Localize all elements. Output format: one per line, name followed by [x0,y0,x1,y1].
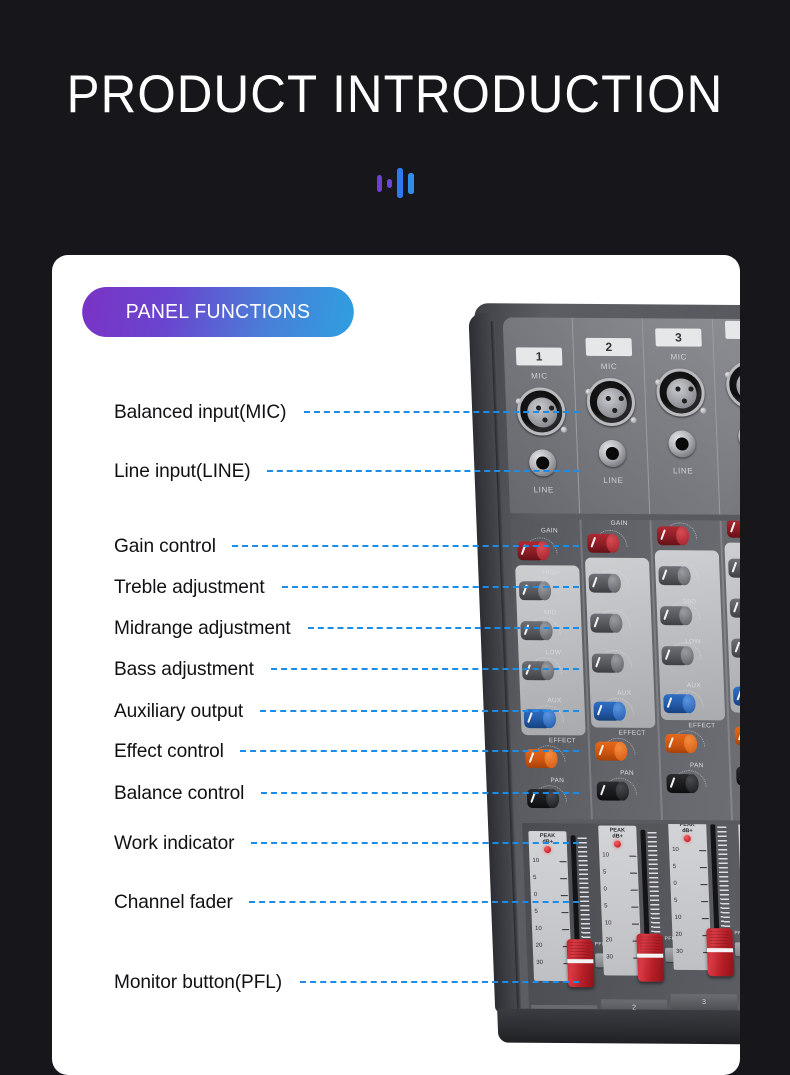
aux-knob-arc [669,690,704,707]
xlr-pin [675,386,680,391]
mid-eq-knob[interactable] [730,599,740,618]
eq-plate [655,550,726,720]
callout-label: Bass adjustment [114,658,254,681]
callout-channel-fader: Channel fader [114,889,579,915]
callout-label: Line input(LINE) [114,460,251,483]
pan-knob-arc [602,778,637,795]
callout-balance-control: Balance control [114,780,579,806]
callout-treble-adjustment: Treble adjustment [114,574,579,600]
callout-label: Monitor button(PFL) [114,971,282,994]
channel-strip-2: 2 MIC LINE [573,318,651,514]
fader-scale: PEAK dB+ 10 5 0 5 10 20 30 [738,823,740,965]
line-label: LINE [579,476,648,485]
xlr-inner [736,371,740,401]
fader-tick: 5 [603,869,637,875]
waveform-bar-1 [377,175,382,192]
pfl-label: PFL [664,936,675,942]
fader-scale: PEAK dB+ 10 5 0 5 10 20 30 [598,825,642,975]
mic-label: MIC [505,371,574,380]
mid-eq-knob[interactable] [660,606,691,625]
fader-tick: 20 [675,932,709,938]
aux-knob[interactable] [663,694,694,713]
low-eq-knob[interactable] [592,654,623,673]
fader-tick: 10 [602,852,636,858]
channel-number: 2 [585,338,632,356]
fader-track [710,824,721,972]
fader-tick: 5 [674,898,708,904]
fader-tick: 5 [533,875,567,881]
eq-plate [724,543,740,713]
channel-fader-strip-4: PEAK dB+ 10 5 0 5 10 20 30 [734,823,740,1005]
mic-label: MIC [644,352,713,361]
xlr-screw [700,408,706,414]
mixer-front-lip [497,1009,740,1046]
fader-tick: 30 [536,960,570,966]
channel-strip-3: 3 MIC LINE [643,318,721,514]
audio-waveform-icon [0,165,790,201]
callout-balanced-input: Balanced input(MIC) [114,399,579,425]
effect-knob[interactable] [734,727,740,746]
channel-number: 1 [516,347,563,365]
low-eq-arc [737,635,740,652]
xlr-screw [585,389,591,395]
channel-fader[interactable] [636,934,664,982]
pan-knob-label: PAN [620,770,634,777]
callout-label: Work indicator [114,832,234,855]
mid-eq-arc [596,610,631,627]
mic-label: MIC [714,345,740,354]
xlr-mic-input[interactable] [725,361,740,409]
callout-label: Channel fader [114,891,233,914]
xlr-pin [612,408,617,413]
panel-functions-card: PANEL FUNCTIONS 1 MIC [52,255,740,1075]
gain-knob-arc [593,530,628,547]
high-eq-knob[interactable] [588,574,619,593]
aux-knob[interactable] [593,702,624,721]
callout-label: Treble adjustment [114,576,265,599]
mid-eq-label: MID [684,598,697,605]
fader-tick: 0 [673,881,707,887]
low-eq-label: LOW [685,638,701,645]
fader-tick: 5 [604,903,638,909]
callout-dash-line [308,627,579,629]
low-eq-knob[interactable] [731,639,740,658]
waveform-bar-3 [397,168,403,198]
channel-divider [649,520,662,820]
peak-led [614,841,621,848]
channel-fader-strip-2: PEAK dB+ 10 5 0 5 10 20 30 [594,823,667,1015]
trs-line-input[interactable] [738,423,740,450]
xlr-pin [619,396,624,401]
high-eq-arc [734,555,740,572]
callout-label: Balance control [114,782,244,805]
callout-dash-line [300,981,579,983]
callout-effect-control: Effect control [114,738,579,764]
high-eq-knob[interactable] [658,566,689,585]
effect-knob[interactable] [665,734,696,753]
channel-number: 4 [725,321,740,339]
fader-ladder [578,837,592,979]
effect-knob-arc [601,738,636,755]
gain-knob-arc [732,519,740,532]
line-label: LINE [509,485,578,494]
callout-label: Balanced input(MIC) [114,401,286,424]
fader-tick: 10 [532,858,566,864]
trs-hole [606,447,620,460]
pfl-label: PFL [734,930,740,936]
aux-knob-label: AUX [617,690,632,697]
effect-knob-arc [671,730,706,747]
callout-label: Midrange adjustment [114,617,291,640]
fader-tick: 30 [676,949,710,955]
aux-knob-arc [739,683,740,700]
badge-label: PANEL FUNCTIONS [126,301,310,324]
channel-number: 3 [655,328,702,346]
xlr-mic-input[interactable] [656,368,706,416]
callout-auxiliary-output: Auxiliary output [114,698,579,724]
callout-dash-line [282,586,579,588]
fader-tick: 20 [536,943,570,949]
gain-knob-label: GAIN [610,520,627,527]
xlr-screw [561,427,567,433]
channel-fader[interactable] [706,928,734,976]
high-eq-arc [664,562,699,579]
xlr-pin [682,398,687,403]
fader-tick: 0 [604,886,638,892]
xlr-pin [688,387,693,392]
aux-knob-arc [599,698,634,715]
callout-dash-line [249,901,579,903]
high-eq-arc [594,570,629,587]
aux-knob-label: AUX [687,682,702,689]
callout-label: Auxiliary output [114,700,243,723]
xlr-screw [631,417,637,423]
low-eq-arc [667,642,702,659]
fader-channel-number: 2 [601,999,668,1015]
fader-tick: 30 [606,954,640,960]
eq-plate [585,558,656,728]
line-label: LINE [648,466,717,475]
callout-dash-line [261,792,579,794]
page-title: PRODUCT INTRODUCTION [28,64,763,125]
xlr-screw [655,379,661,385]
xlr-pin [606,396,611,401]
trs-line-input[interactable] [598,440,626,467]
effect-knob-label: EFFECT [619,730,646,737]
fader-scale: PEAK dB+ 10 5 0 5 10 20 30 [668,823,712,970]
channel-fader-strip-3: PEAK dB+ 10 5 0 5 10 20 30 [664,823,737,1010]
callout-dash-line [251,842,579,844]
callout-midrange-adjustment: Midrange adjustment [114,615,579,641]
peak-led [684,835,691,842]
callout-work-indicator: Work indicator [114,830,579,856]
gain-knob[interactable] [726,519,740,538]
pan-knob[interactable] [666,774,697,793]
fader-tick: 20 [605,937,639,943]
peak-label: PEAK dB+ [668,823,706,834]
trs-hole [675,437,689,450]
fader-tick: 10 [675,915,709,921]
fader-track [640,830,651,978]
fader-tick: 10 [672,847,706,853]
callout-dash-line [304,411,579,413]
gain-knob[interactable] [657,526,688,545]
trs-line-input[interactable] [668,430,696,457]
pan-knob[interactable] [736,766,740,785]
high-eq-knob[interactable] [728,559,740,578]
fader-channel-number: 3 [671,994,738,1010]
callout-label: Gain control [114,535,216,558]
xlr-mic-input[interactable] [586,378,636,426]
fader-tick: 5 [673,864,707,870]
callout-monitor-button: Monitor button(PFL) [114,969,579,995]
gain-knob[interactable] [587,534,618,553]
pan-knob-label: PAN [690,762,704,769]
callout-dash-line [260,710,579,712]
xlr-inner [596,388,627,418]
fader-ladder [717,826,731,968]
mid-eq-knob[interactable] [590,614,621,633]
callout-dash-line [232,545,579,547]
callout-bass-adjustment: Bass adjustment [114,656,579,682]
low-eq-knob[interactable] [661,646,692,665]
fader-tick: 10 [535,926,569,932]
callout-dash-line [267,470,579,472]
channel-divider [579,520,592,820]
mid-eq-arc [735,595,740,612]
callout-dash-line [271,668,579,670]
aux-knob[interactable] [733,687,740,706]
callout-gain-control: Gain control [114,533,579,559]
pan-knob-arc [672,770,707,787]
mic-label: MIC [574,362,643,371]
callout-label: Effect control [114,740,224,763]
gain-knob-arc [663,522,698,539]
effect-knob-label: EFFECT [688,722,715,729]
mid-eq-arc [666,602,701,619]
peak-label: PEAK dB+ [598,827,636,839]
pfl-button[interactable] [665,948,684,962]
pan-knob[interactable] [596,782,627,801]
fader-tick: 10 [605,920,639,926]
callout-dash-line [240,750,579,752]
pfl-button[interactable] [735,942,740,956]
pfl-button[interactable] [595,953,614,967]
waveform-bar-2 [387,179,392,188]
channel-divider [720,521,733,821]
fader-ladder [647,832,661,974]
line-label: LINE [718,459,740,468]
low-eq-arc [597,650,632,667]
waveform-bar-4 [408,173,414,194]
pfl-label: PFL [595,941,606,947]
xlr-inner [666,378,697,408]
callout-line-input: Line input(LINE) [114,458,579,484]
peak-label: PEAK dB+ [738,823,740,829]
channel-strip-4: 4 MIC LINE [713,319,740,515]
panel-functions-badge: PANEL FUNCTIONS [82,287,354,337]
effect-knob[interactable] [595,742,626,761]
xlr-screw [725,372,731,378]
fader-channel-number: 1 [531,1005,598,1021]
